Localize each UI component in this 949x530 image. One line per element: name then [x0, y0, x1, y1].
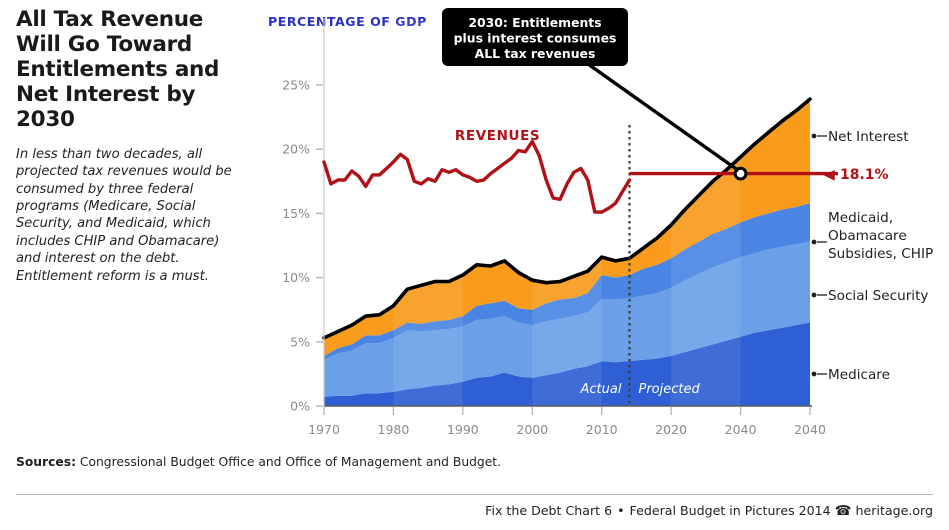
- revenues-label: REVENUES: [455, 128, 540, 144]
- y-tick-label: 5%: [290, 334, 310, 349]
- page-description: In less than two decades, all projected …: [16, 146, 244, 285]
- flat-line-value-arrow-icon: ◀: [824, 167, 835, 183]
- credit-line: Fix the Debt Chart 6•Federal Budget in P…: [485, 503, 933, 519]
- credit-chart-number: Fix the Debt Chart 6: [485, 503, 612, 518]
- medicaid-leader-dot: [812, 240, 817, 245]
- x-tick-label: 2040: [794, 422, 826, 437]
- x-tick-label: 2010: [586, 422, 618, 437]
- y-tick-label: 20%: [282, 142, 310, 157]
- sources-line: Sources: Congressional Budget Office and…: [16, 455, 501, 469]
- x-tick-label: 1970: [308, 422, 340, 437]
- callout-line: ALL tax revenues: [475, 46, 596, 61]
- net-interest-leader-dot: [812, 134, 817, 139]
- band-label-medicaid-line: Medicaid,: [828, 210, 893, 226]
- flat-line-value-label: 18.1%: [840, 167, 889, 183]
- social-security-leader-dot: [812, 293, 817, 298]
- y-tick-label: 15%: [282, 206, 310, 221]
- band-label-medicare: Medicare: [828, 367, 890, 383]
- y-tick-label: 25%: [282, 78, 310, 93]
- decade-shading: [393, 20, 740, 406]
- phone-icon: ☎: [835, 503, 852, 519]
- band-label-net-interest: Net Interest: [828, 129, 909, 145]
- medicare-leader-dot: [812, 372, 817, 377]
- page-title: All Tax Revenue Will Go Toward Entitleme…: [16, 8, 244, 133]
- x-tick-label: 2040: [725, 422, 757, 437]
- y-tick-label: 10%: [282, 270, 310, 285]
- callout-line: plus interest consumes: [454, 31, 617, 46]
- band-label-medicaid-line: Obamacare: [828, 228, 907, 244]
- decade-band: [393, 20, 462, 406]
- callout-line: 2030: Entitlements: [468, 15, 601, 30]
- sources-label: Sources:: [16, 455, 76, 469]
- credit-publication: Federal Budget in Pictures 2014: [630, 503, 831, 518]
- sources-text: Congressional Budget Office and Office o…: [76, 455, 501, 469]
- x-tick-label: 1990: [447, 422, 479, 437]
- x-tick-label: 2000: [516, 422, 548, 437]
- chart-container: PERCENTAGE OF GDP 0%5%10%15%20%25%197019…: [256, 0, 949, 448]
- band-label-social-security: Social Security: [828, 288, 928, 304]
- y-tick-label: 0%: [290, 399, 310, 414]
- chart-plot-area: 0%5%10%15%20%25%197019801990200020102020…: [256, 0, 949, 448]
- chart-page: All Tax Revenue Will Go Toward Entitleme…: [0, 0, 949, 530]
- projected-label: Projected: [638, 382, 700, 397]
- credit-website: heritage.org: [856, 503, 933, 518]
- credit-separator-icon: •: [617, 503, 624, 518]
- decade-band: [532, 20, 601, 406]
- x-tick-label: 2020: [655, 422, 687, 437]
- left-column: All Tax Revenue Will Go Toward Entitleme…: [16, 8, 244, 285]
- band-label-medicaid-line: Subsidies, CHIP: [828, 246, 933, 262]
- x-tick-label: 1980: [378, 422, 410, 437]
- footer-divider: [16, 494, 933, 495]
- actual-label: Actual: [580, 382, 622, 397]
- area-chart-svg: 0%5%10%15%20%25%197019801990200020102020…: [256, 0, 949, 448]
